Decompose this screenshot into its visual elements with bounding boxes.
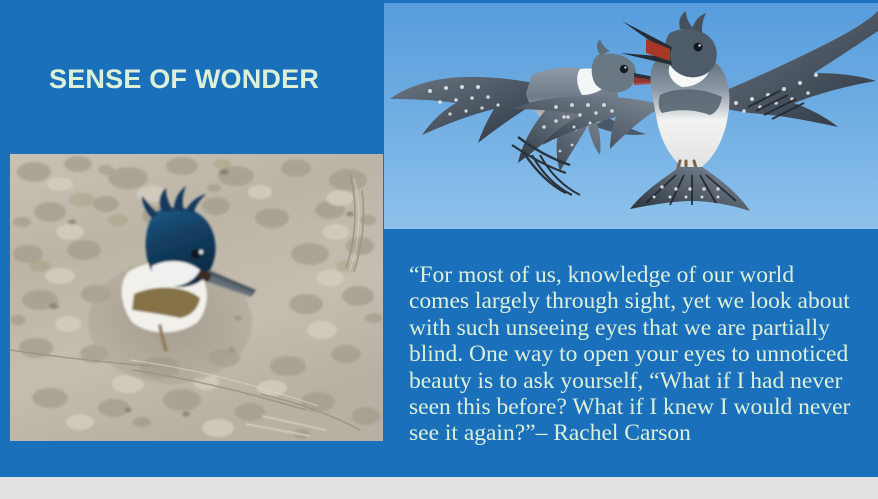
slide-canvas: SENSE OF WONDER (0, 0, 878, 477)
page-title: SENSE OF WONDER (49, 62, 349, 96)
photo-kingfishers-in-flight (384, 3, 878, 229)
quote-text: “For most of us, knowledge of our world … (409, 262, 859, 447)
bottom-chrome-strip (0, 477, 878, 499)
slide-root: SENSE OF WONDER (0, 0, 878, 499)
photo-kingfisher-in-burrow (10, 154, 383, 441)
